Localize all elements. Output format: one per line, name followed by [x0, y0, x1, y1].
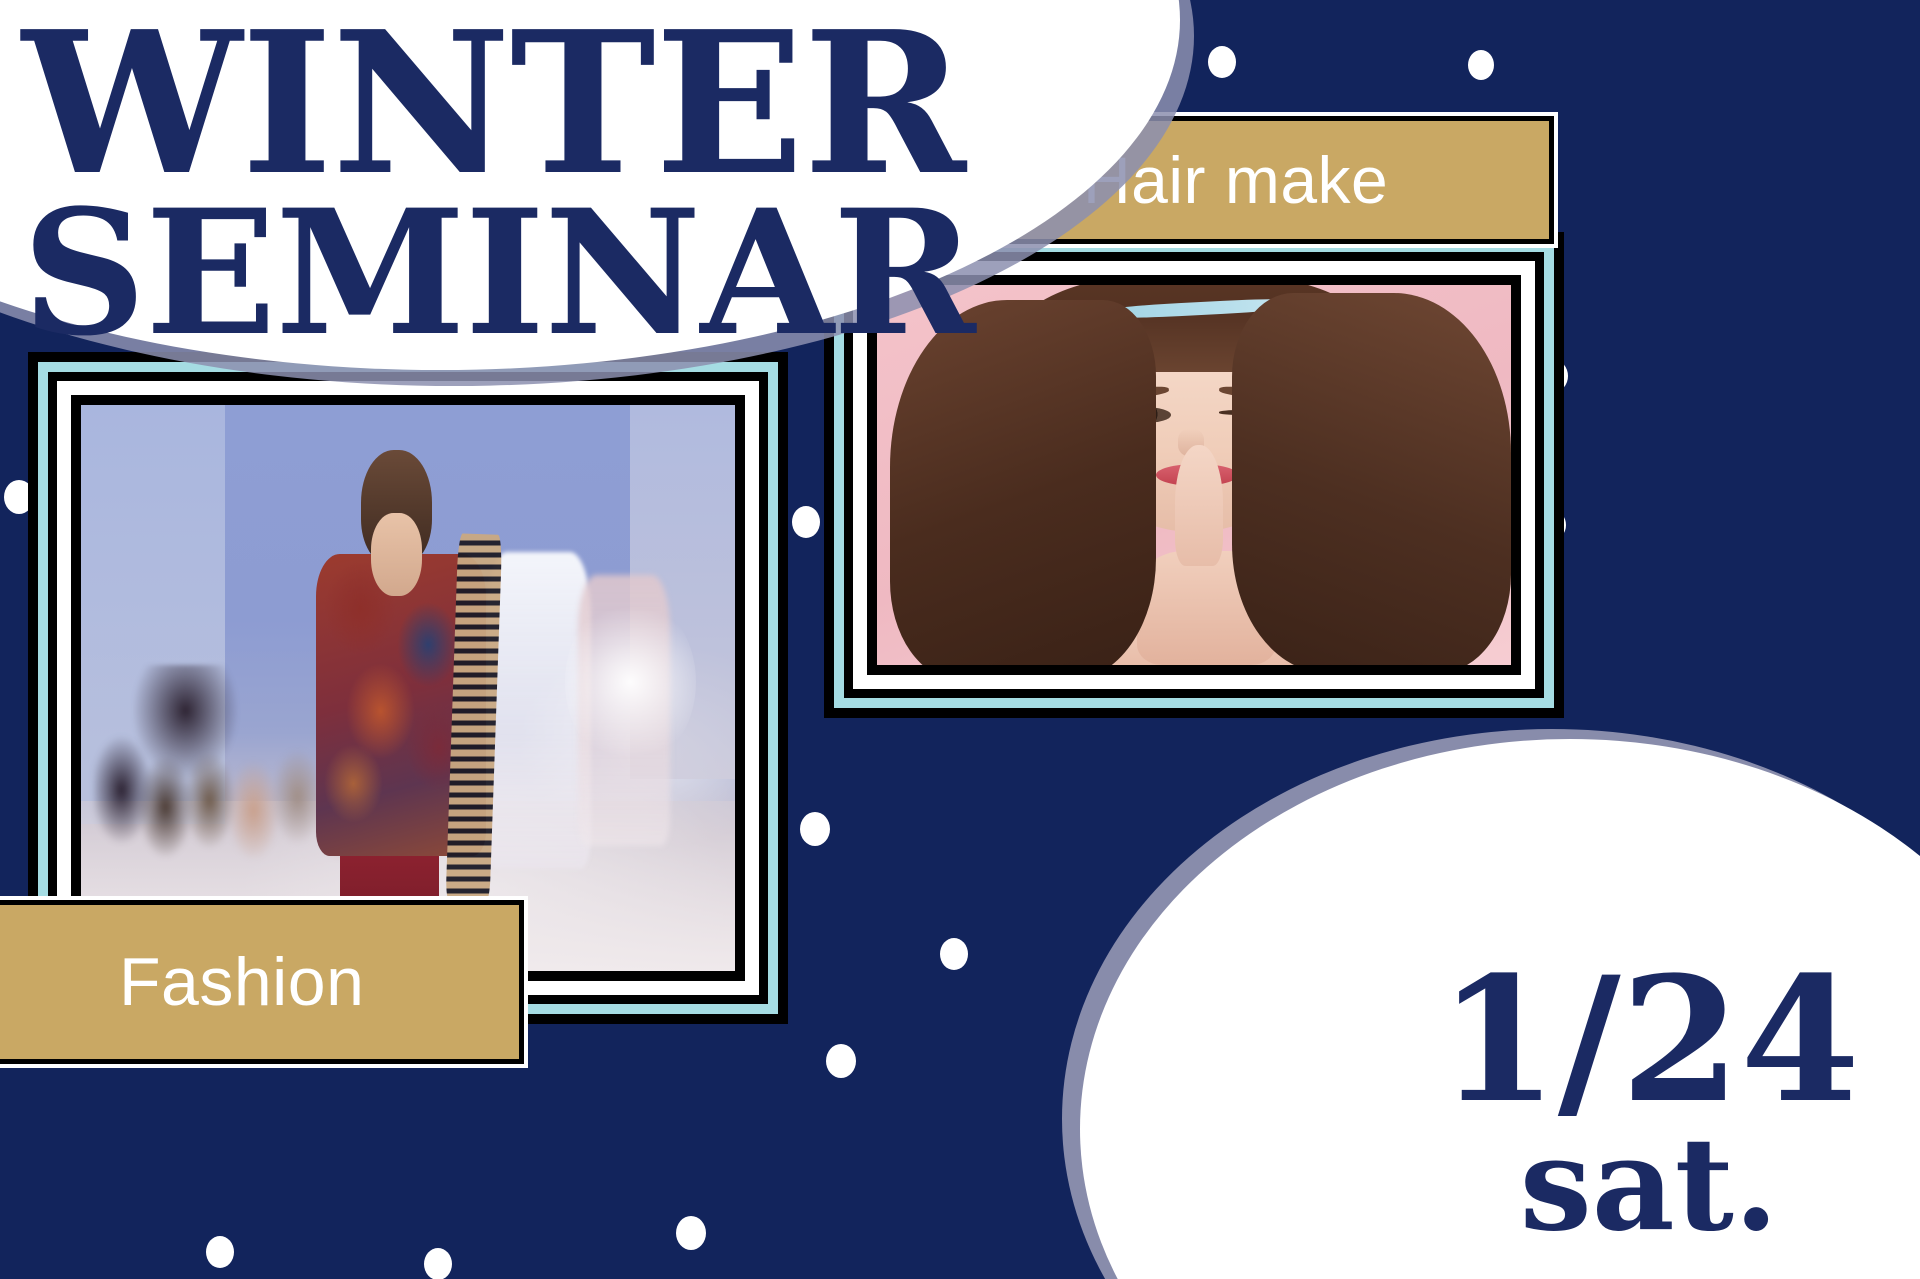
event-date: 1/24 sat. — [1438, 958, 1860, 1249]
decorative-dot — [424, 1248, 452, 1279]
event-date-day: 1/24 — [1438, 958, 1860, 1121]
decorative-dot — [940, 938, 968, 970]
frame-inner-black-band — [71, 395, 745, 981]
category-label-text: Fashion — [0, 943, 364, 1021]
poster-title: WINTER SEMINAR — [0, 0, 900, 353]
decorative-dot — [1468, 50, 1494, 80]
decorative-dot — [206, 1236, 234, 1268]
decorative-dot — [1208, 46, 1236, 78]
title-line-seminar: SEMINAR — [0, 194, 900, 352]
decorative-dot — [676, 1216, 706, 1250]
title-line-winter: WINTER — [0, 0, 900, 194]
fashion-runway-photo — [81, 405, 735, 971]
decorative-dot — [826, 1044, 856, 1078]
poster-canvas: Hair make Fashion WINTER SEMINAR 1/24 sa… — [0, 0, 1920, 1279]
category-label-fashion: Fashion — [0, 896, 528, 1068]
decorative-dot — [792, 506, 820, 538]
decorative-dot — [800, 812, 830, 846]
